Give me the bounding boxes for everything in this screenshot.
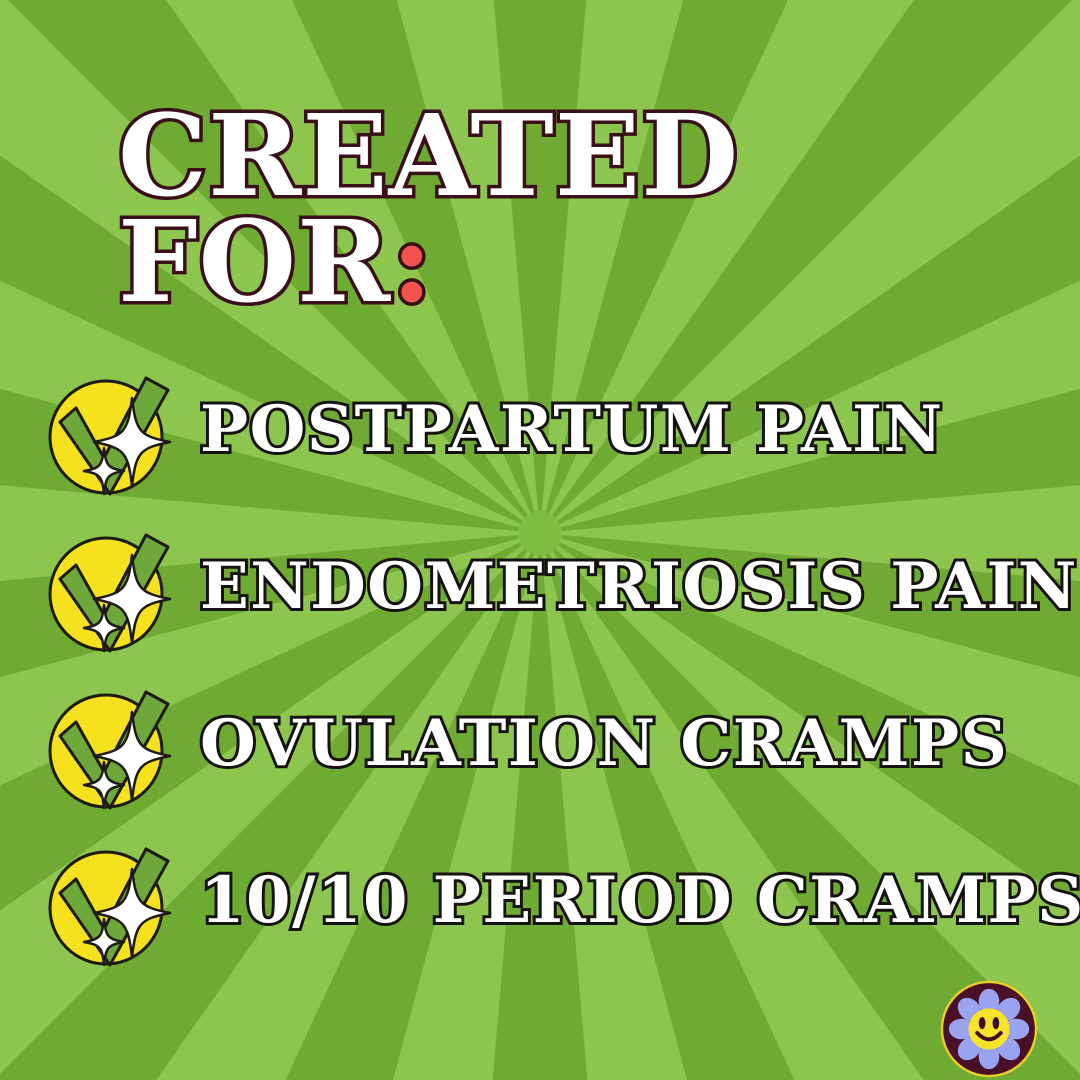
checkmark-sparkle-icon [46,370,176,500]
smiley-flower-logo[interactable] [940,980,1038,1078]
list-item: OVULATION CRAMPS [0,682,1080,839]
checklist: POSTPARTUM PAIN ENDOMETRIOSIS PAIN [0,368,1080,996]
headline-line-1: CREATED [118,104,739,210]
list-item: ENDOMETRIOSIS PAIN [0,525,1080,682]
promo-card: CREATED FOR: POSTPARTUM PAIN [0,0,1080,1080]
list-item-label: OVULATION CRAMPS [200,706,1008,781]
list-item-label: ENDOMETRIOSIS PAIN [200,549,1078,624]
checkmark-sparkle-icon [46,527,176,657]
headline-line-2: FOR: [118,210,739,316]
list-item-label: 10/10 PERIOD CRAMPS [200,863,1080,938]
list-item-label: POSTPARTUM PAIN [200,392,944,467]
headline-colon: : [391,197,433,328]
checkmark-sparkle-icon [46,841,176,971]
headline-line-2-text: FOR [118,197,391,328]
list-item: 10/10 PERIOD CRAMPS [0,839,1080,996]
checkmark-sparkle-icon [46,684,176,814]
page-title: CREATED FOR: [118,104,739,317]
list-item: POSTPARTUM PAIN [0,368,1080,525]
